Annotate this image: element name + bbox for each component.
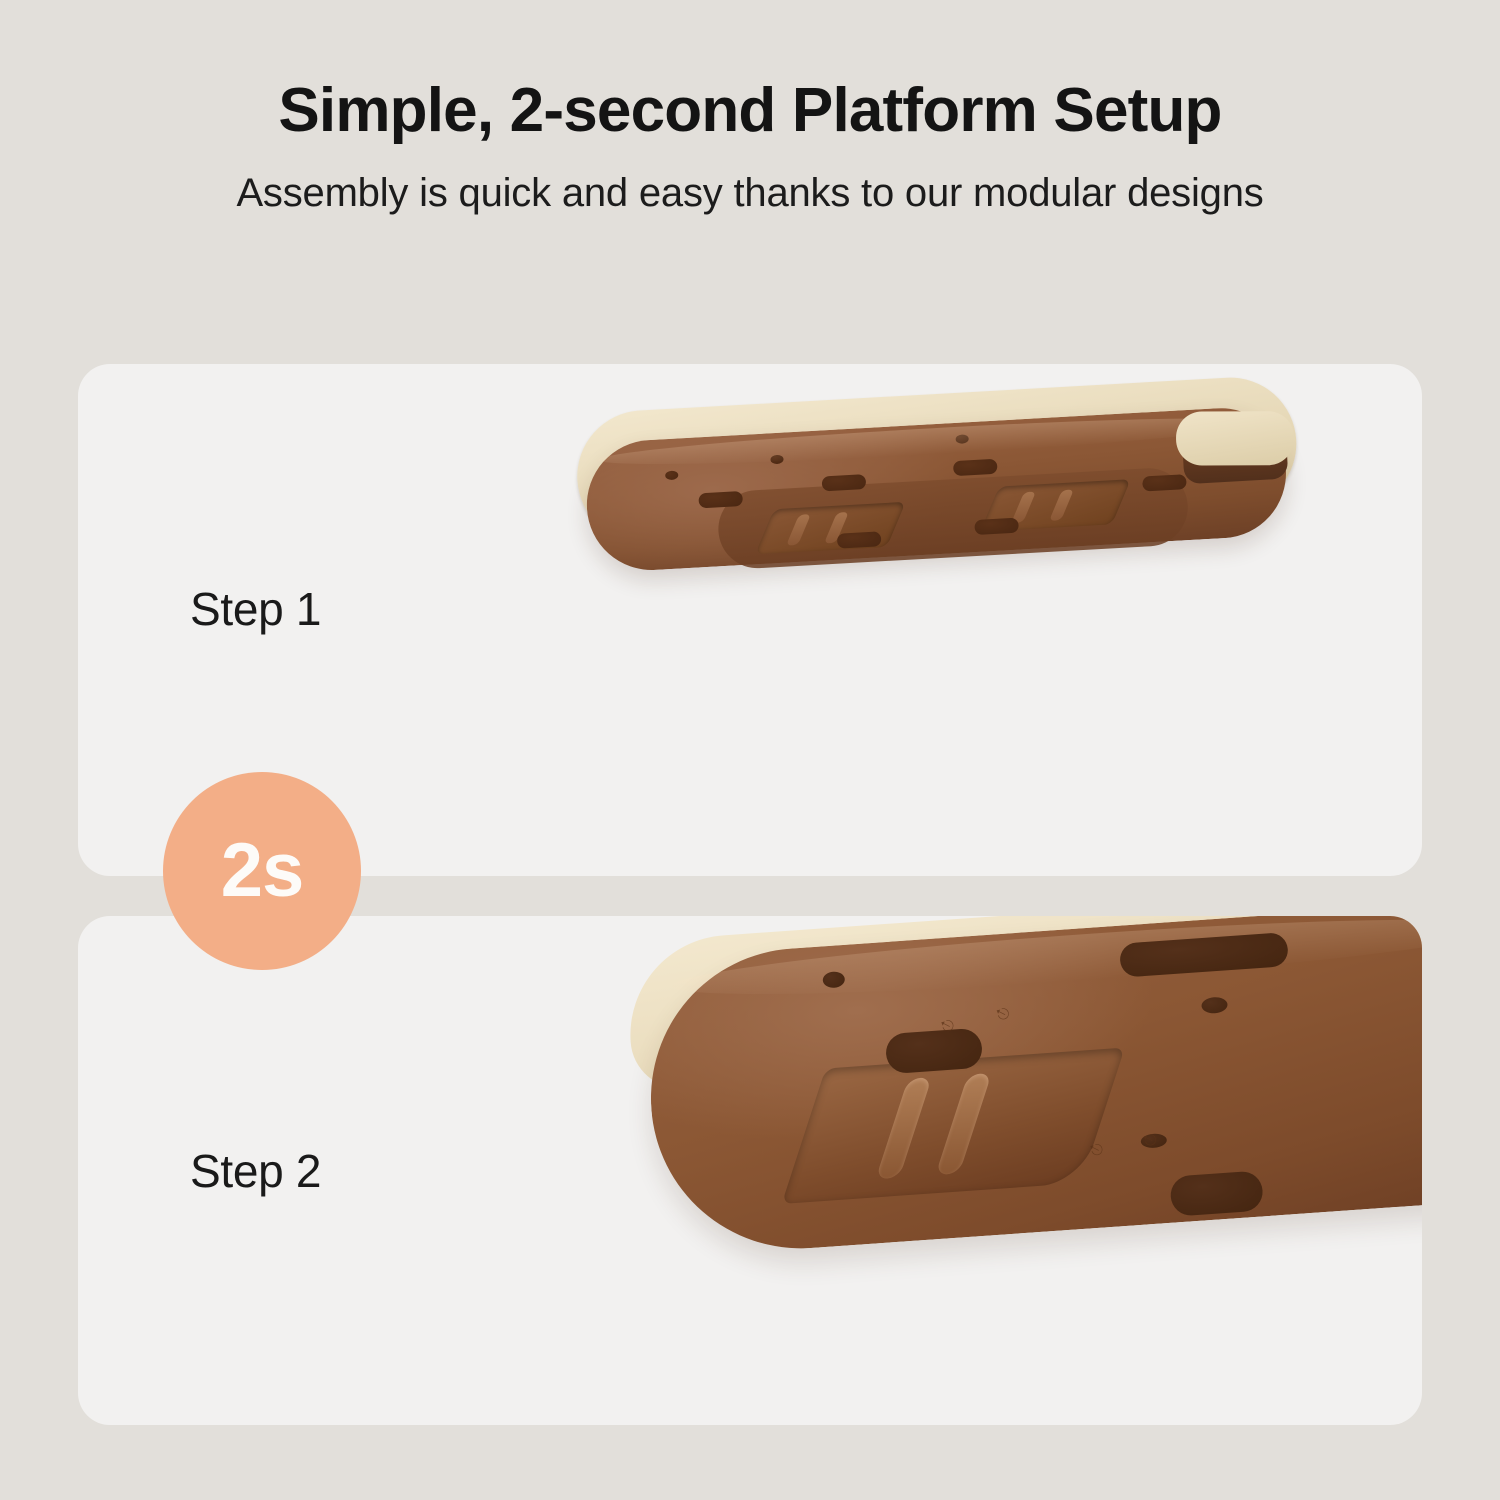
platform-board bbox=[574, 374, 1303, 589]
page-subtitle: Assembly is quick and easy thanks to our… bbox=[0, 171, 1500, 216]
mounting-hole bbox=[837, 531, 882, 548]
duration-badge: 2s bbox=[163, 772, 361, 970]
mounting-hole bbox=[1142, 474, 1187, 491]
platform-brown-underside: ⎋ ⎋ ⎋ ⎋ ⎋ bbox=[641, 916, 1422, 1258]
mounting-hole bbox=[974, 518, 1019, 535]
mounting-hole bbox=[770, 455, 783, 465]
mounting-hole bbox=[885, 1028, 984, 1075]
molded-marking: ⎋ bbox=[995, 1005, 1012, 1026]
mounting-hole bbox=[1169, 1170, 1264, 1216]
duration-badge-label: 2s bbox=[221, 833, 304, 909]
mounting-hole bbox=[1119, 932, 1289, 978]
slide-lock-slot bbox=[935, 1073, 992, 1175]
mounting-hole bbox=[665, 470, 678, 480]
page-title: Simple, 2-second Platform Setup bbox=[0, 78, 1500, 143]
step-2-label: Step 2 bbox=[190, 1144, 321, 1198]
slide-lock-slot bbox=[875, 1077, 932, 1179]
header: Simple, 2-second Platform Setup Assembly… bbox=[0, 0, 1500, 216]
slide-lock-plate bbox=[782, 1048, 1125, 1204]
platform-board-installed: ⎋ ⎋ ⎋ ⎋ ⎋ bbox=[620, 916, 1422, 1272]
mounting-hole bbox=[953, 459, 998, 476]
molded-marking: ⎋ bbox=[1089, 1140, 1106, 1161]
mounting-hole bbox=[955, 434, 968, 444]
mounting-hole bbox=[1201, 996, 1228, 1014]
mounting-hole bbox=[822, 971, 845, 988]
platform-lock-tab bbox=[1176, 411, 1294, 465]
step-1-label: Step 1 bbox=[190, 582, 321, 636]
mounting-hole bbox=[698, 491, 743, 508]
step-2-panel: Step 2 ⎋ ⎋ ⎋ ⎋ bbox=[78, 916, 1422, 1425]
mounting-hole bbox=[822, 474, 867, 491]
